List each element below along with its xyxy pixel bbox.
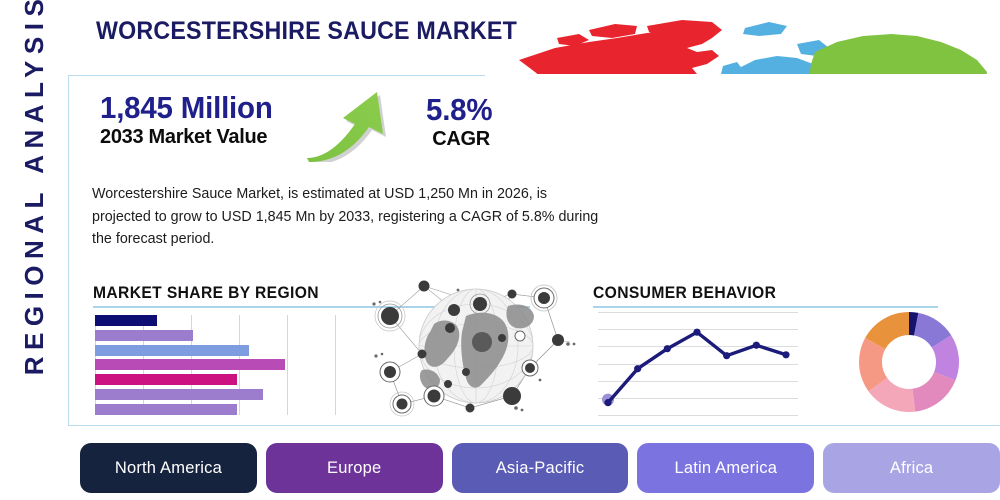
growth-arrow-icon <box>303 88 395 162</box>
bar-2 <box>95 330 193 341</box>
bar-row <box>95 330 335 341</box>
line-point-6 <box>753 342 760 349</box>
section-heading-consumer-behavior: CONSUMER BEHAVIOR <box>593 283 776 303</box>
consumer-behavior-line-chart <box>598 312 798 415</box>
line-point-3 <box>664 345 671 352</box>
kpi-market-value-number: 1,845 Million <box>100 92 273 123</box>
bar-5 <box>95 374 237 385</box>
bar-3 <box>95 345 249 356</box>
section-heading-market-share: MARKET SHARE BY REGION <box>93 283 319 303</box>
kpi-cagr-label: CAGR <box>426 129 496 150</box>
line-point-5 <box>723 352 730 359</box>
bar-6 <box>95 389 263 400</box>
region-button-label: Asia-Pacific <box>496 459 585 478</box>
kpi-cagr-number: 5.8% <box>426 94 492 125</box>
bar-row <box>95 374 335 385</box>
line-point-4 <box>693 329 700 336</box>
region-button-bar: North AmericaEuropeAsia-PacificLatin Ame… <box>80 443 1000 493</box>
page-title: WORCESTERSHIRE SAUCE MARKET <box>96 17 517 46</box>
line-point-2 <box>634 365 641 372</box>
regional-donut-chart <box>855 308 963 416</box>
bar-row <box>95 359 335 370</box>
kpi-market-value-label: 2033 Market Value <box>100 127 282 148</box>
region-button-africa[interactable]: Africa <box>823 443 1000 493</box>
region-button-north-america[interactable]: North America <box>80 443 257 493</box>
bar-7 <box>95 404 237 415</box>
card-mask <box>485 74 1000 284</box>
kpi-cagr: 5.8% CAGR <box>426 94 496 150</box>
region-button-asia-pacific[interactable]: Asia-Pacific <box>452 443 629 493</box>
bar-chart-rows <box>95 315 335 415</box>
kpi-row: 1,845 Million 2033 Market Value 5.8% CAG… <box>100 92 500 170</box>
bar-row <box>95 315 335 326</box>
region-button-label: Latin America <box>675 459 778 478</box>
line-point-7 <box>782 351 789 358</box>
kpi-market-value: 1,845 Million 2033 Market Value <box>100 92 282 148</box>
region-button-latin-america[interactable]: Latin America <box>637 443 814 493</box>
bar-1 <box>95 315 157 326</box>
region-button-label: North America <box>115 459 222 478</box>
market-description: Worcestershire Sauce Market, is estimate… <box>92 183 602 251</box>
line-point-1 <box>604 399 611 406</box>
bar-4 <box>95 359 285 370</box>
side-label-regional-analysis: REGIONAL ANALYSIS <box>17 0 51 384</box>
bar-row <box>95 404 335 415</box>
market-share-bar-chart <box>95 315 335 415</box>
region-button-label: Europe <box>327 459 381 478</box>
line-gridline <box>598 415 798 416</box>
globe-network-icon <box>362 276 587 424</box>
donut-segment-4 <box>912 372 955 412</box>
region-button-label: Africa <box>890 459 933 478</box>
bar-row <box>95 389 335 400</box>
bar-row <box>95 345 335 356</box>
region-button-europe[interactable]: Europe <box>266 443 443 493</box>
